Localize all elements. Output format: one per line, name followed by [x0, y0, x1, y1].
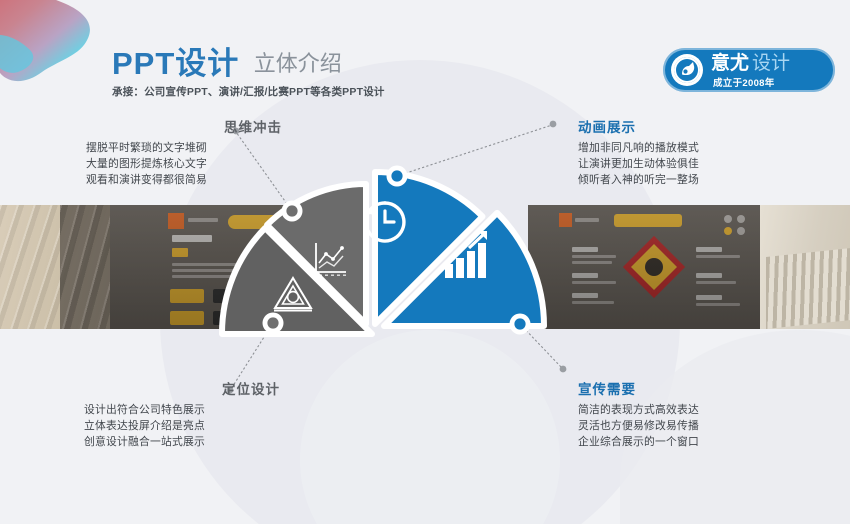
- callout-title: 动画展示: [578, 121, 778, 135]
- callout-line-2: 大量的图形提炼核心文字: [86, 156, 282, 172]
- callout-xuanchuan-xuyao: 宣传需要 简洁的表现方式高效表达 灵活也方便易修改易传播 企业综合展示的一个窗口: [578, 383, 778, 450]
- callout-line-1: 摆脱平时繁琐的文字堆砌: [86, 140, 282, 156]
- node-siwei[interactable]: [282, 201, 303, 222]
- callout-line-2: 让演讲更加生动体验俱佳: [578, 156, 778, 172]
- callout-line-2: 灵活也方便易修改易传播: [578, 418, 778, 434]
- callout-line-3: 观看和演讲变得都很简易: [86, 172, 282, 188]
- callout-line-1: 简洁的表现方式高效表达: [578, 402, 778, 418]
- node-xuanchuan[interactable]: [510, 314, 531, 335]
- callout-title: 宣传需要: [578, 383, 778, 397]
- callout-title: 定位设计: [84, 383, 280, 397]
- callout-line-1: 设计出符合公司特色展示: [84, 402, 280, 418]
- callout-line-2: 立体表达投屏介绍是亮点: [84, 418, 280, 434]
- node-dingwei[interactable]: [263, 313, 284, 334]
- callout-title: 思维冲击: [86, 121, 282, 135]
- callout-line-3: 倾听者入神的听完一整场: [578, 172, 778, 188]
- node-donghua[interactable]: [387, 166, 408, 187]
- callout-line-3: 企业综合展示的一个窗口: [578, 434, 778, 450]
- callout-line-3: 创意设计融合一站式展示: [84, 434, 280, 450]
- slide-canvas: PPT设计 立体介绍 承接：公司宣传PPT、演讲/汇报/比赛PPT等各类PPT设…: [0, 0, 850, 524]
- callout-line-1: 增加非同凡响的播放模式: [578, 140, 778, 156]
- callout-dingwei-sheji: 定位设计 设计出符合公司特色展示 立体表达投屏介绍是亮点 创意设计融合一站式展示: [84, 383, 280, 450]
- callout-donghua-zhanshi: 动画展示 增加非同凡响的播放模式 让演讲更加生动体验俱佳 倾听者入神的听完一整场: [578, 121, 778, 188]
- callout-siwei-chongji: 思维冲击 摆脱平时繁琐的文字堆砌 大量的图形提炼核心文字 观看和演讲变得都很简易: [86, 121, 282, 188]
